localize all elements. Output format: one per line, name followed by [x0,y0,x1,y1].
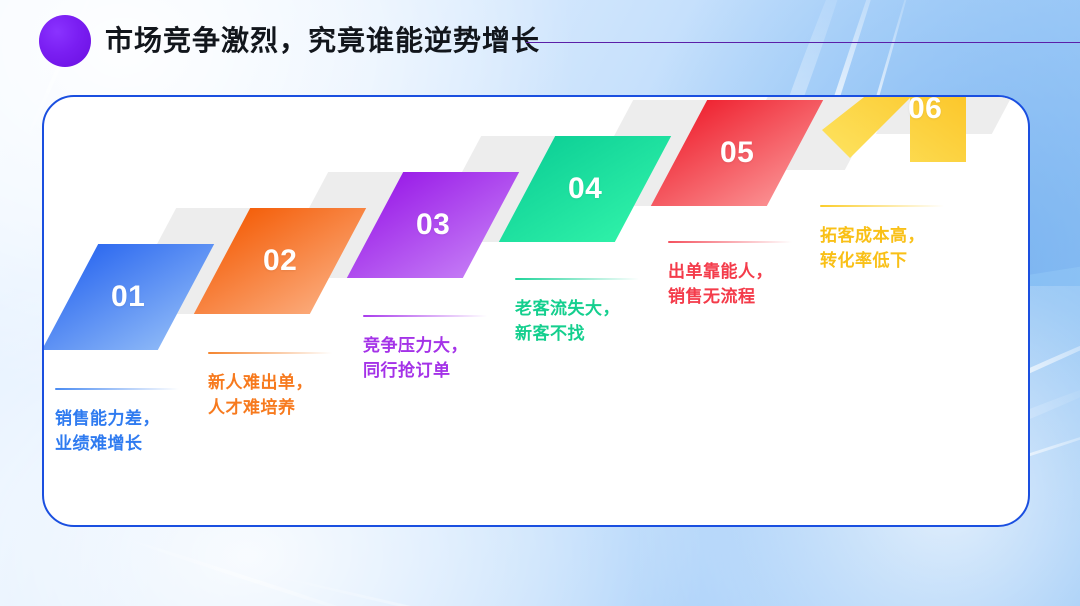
step-ladder: 01销售能力差， 业绩难增长02新人难出单， 人才难培养03竞争压力大， 同行抢… [44,97,1028,525]
step-label-rule [820,205,944,207]
step-label-rule [363,315,487,317]
step-label-rule [208,352,332,354]
title-divider [526,42,1080,43]
step-number: 03 [416,208,450,242]
step-label-06: 拓客成本高， 转化率低下 [820,205,944,273]
step-label-text: 新人难出单， 人才难培养 [208,370,332,420]
step-label-text: 出单靠能人， 销售无流程 [668,259,792,309]
step-number: 05 [720,136,754,170]
step-label-text: 销售能力差， 业绩难增长 [55,406,179,456]
step-label-text: 竞争压力大， 同行抢订单 [363,333,487,383]
slide-header: 市场竞争激烈，究竟谁能逆势增长 [0,0,1080,92]
step-label-rule [55,388,179,390]
page-title: 市场竞争激烈，究竟谁能逆势增长 [105,17,540,65]
step-label-05: 出单靠能人， 销售无流程 [668,241,792,309]
step-number: 06 [908,95,942,126]
step-number: 01 [111,280,145,314]
step-number: 02 [263,244,297,278]
step-label-04: 老客流失大， 新客不找 [515,278,639,346]
content-card: 01销售能力差， 业绩难增长02新人难出单， 人才难培养03竞争压力大， 同行抢… [42,95,1030,527]
step-number: 04 [568,172,602,206]
step-label-rule [668,241,792,243]
step-label-rule [515,278,639,280]
step-label-02: 新人难出单， 人才难培养 [208,352,332,420]
step-label-01: 销售能力差， 业绩难增长 [55,388,179,456]
step-shape-arrow[interactable]: 06 [820,95,996,184]
purple-dot-icon [39,15,91,67]
step-label-text: 老客流失大， 新客不找 [515,296,639,346]
step-label-text: 拓客成本高， 转化率低下 [820,223,944,273]
step-label-03: 竞争压力大， 同行抢订单 [363,315,487,383]
slide-stage: 市场竞争激烈，究竟谁能逆势增长 01销售能力差， 业绩难增长02新人难出单， 人… [0,0,1080,606]
